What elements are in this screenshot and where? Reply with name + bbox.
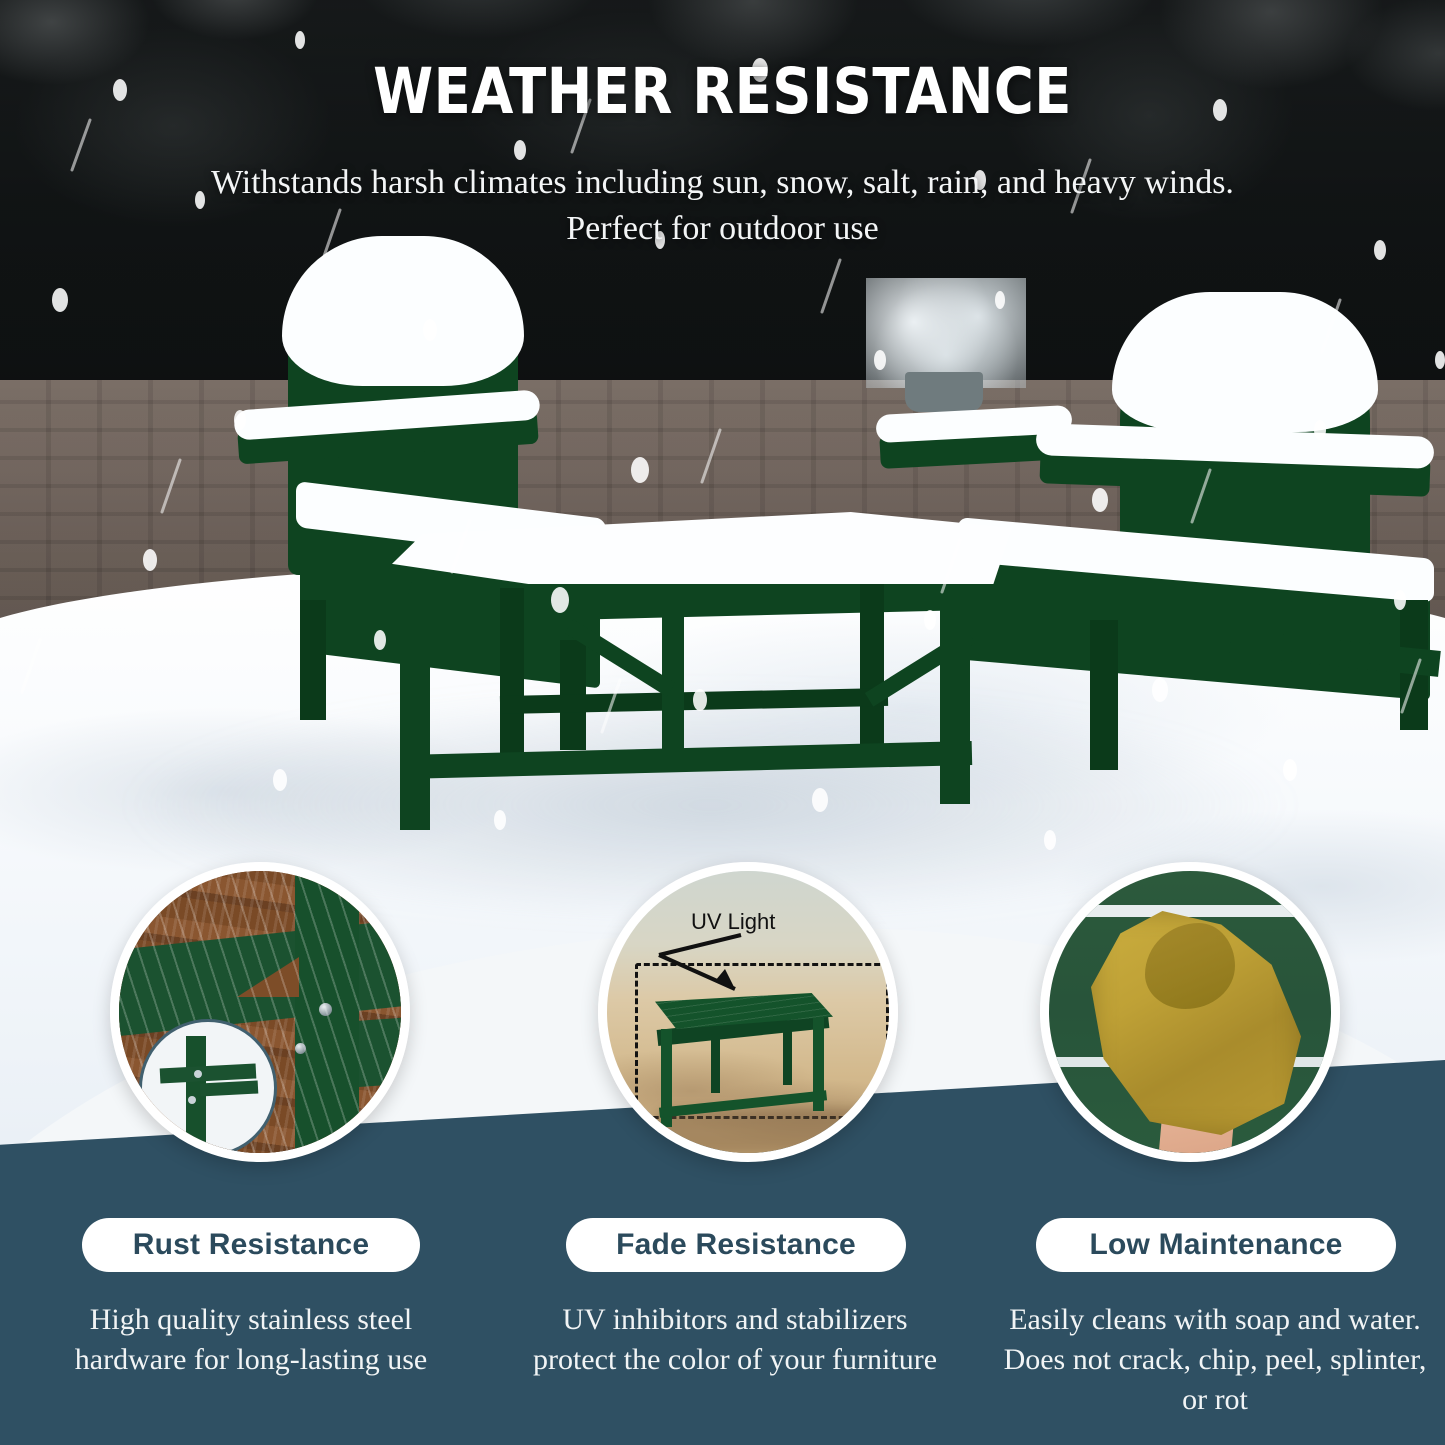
table-leg-back-right (860, 568, 884, 746)
inset-screw-icon (188, 1096, 196, 1104)
infographic-page: WEATHER RESISTANCE Withstands harsh clim… (0, 0, 1445, 1445)
hardware-zoom-inset (139, 1019, 277, 1157)
feature-pill-low-maintenance[interactable]: Low Maintenance (1036, 1218, 1396, 1272)
left-chair-leg-front (300, 600, 326, 720)
feature-pill-label: Fade Resistance (616, 1228, 856, 1262)
table-leg-back-left (500, 588, 524, 768)
feature-pill-label: Low Maintenance (1089, 1228, 1342, 1262)
left-chair-back-snow (282, 236, 524, 386)
feature-image-fade-resistance: UV Light (598, 862, 898, 1162)
feature-caption-rust-resistance: High quality stainless steel hardware fo… (46, 1300, 456, 1380)
feature-image-low-maintenance (1040, 862, 1340, 1162)
table-leg-front-left (400, 600, 430, 830)
table-leg-front-right (940, 576, 970, 804)
feature-pill-label: Rust Resistance (133, 1228, 369, 1262)
inset-screw-icon (194, 1070, 202, 1078)
feature-pill-fade-resistance[interactable]: Fade Resistance (566, 1218, 906, 1272)
page-title: WEATHER RESISTANCE (29, 55, 1416, 128)
surface-highlight-line-top (1049, 905, 1340, 917)
uv-light-label: UV Light (691, 909, 775, 935)
right-chair-leg-front (1090, 620, 1118, 770)
feature-caption-fade-resistance: UV inhibitors and stabilizers protect th… (520, 1300, 950, 1380)
feature-caption-low-maintenance: Easily cleans with soap and water. Does … (1000, 1300, 1430, 1420)
inset-rail-bottom (200, 1080, 259, 1096)
right-chair-back-snow (1112, 292, 1378, 432)
planter-pot (905, 372, 983, 412)
feature-pill-rust-resistance[interactable]: Rust Resistance (82, 1218, 420, 1272)
page-subtitle: Withstands harsh climates including sun,… (190, 160, 1255, 252)
feature-image-rust-resistance (110, 862, 410, 1162)
